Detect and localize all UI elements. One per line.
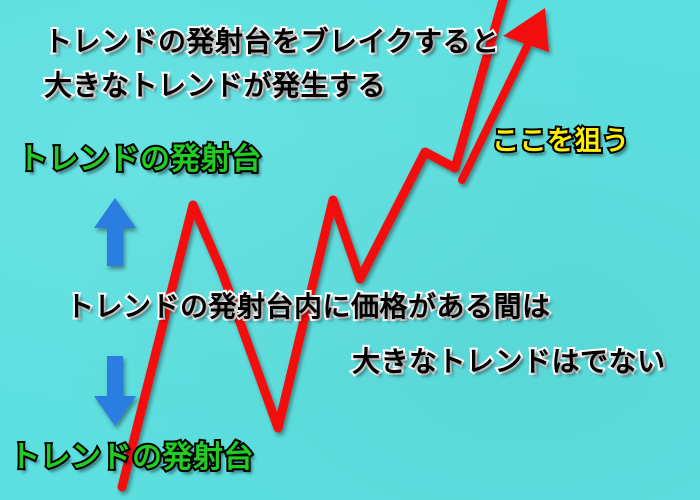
label-top-platform: トレンドの発射台 bbox=[18, 145, 262, 175]
headline-line-1: トレンドの発射台をブレイクすると bbox=[44, 28, 499, 56]
label-target: ここを狙う bbox=[492, 128, 630, 155]
range-down-arrow-icon bbox=[94, 356, 136, 426]
range-up-arrow-icon bbox=[94, 198, 136, 266]
note-inside-range-line-1: トレンドの発射台内に価格がある間は bbox=[66, 293, 551, 321]
diagram-canvas: トレンドの発射台をブレイクすると 大きなトレンドが発生する トレンドの発射台 こ… bbox=[0, 0, 700, 500]
note-inside-range-line-2: 大きなトレンドはでない bbox=[352, 348, 666, 376]
label-bottom-platform: トレンドの発射台 bbox=[10, 443, 254, 473]
headline-line-2: 大きなトレンドが発生する bbox=[44, 72, 386, 100]
